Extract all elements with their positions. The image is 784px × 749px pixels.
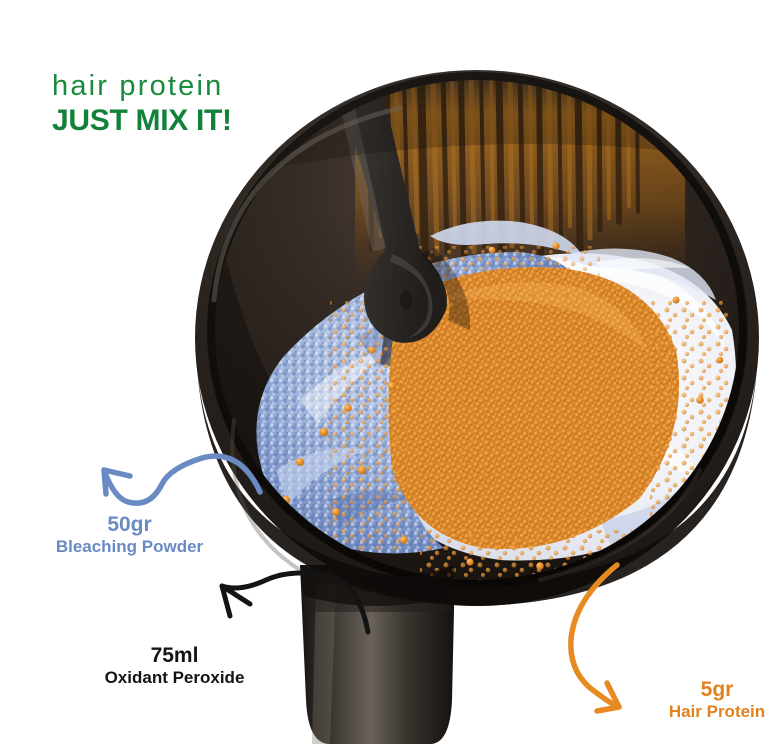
title-line-2: JUST MIX IT!	[52, 105, 232, 137]
bleaching-powder-name: Bleaching Powder	[22, 537, 237, 557]
callout-bleaching-powder: 50gr Bleaching Powder	[22, 513, 237, 558]
oxidant-peroxide-amount: 75ml	[62, 644, 287, 668]
oxidant-peroxide-name: Oxidant Peroxide	[62, 668, 287, 688]
callout-hair-protein: 5gr Hair Protein	[643, 678, 784, 723]
title-line-1: hair protein	[52, 72, 232, 101]
hair-protein-name: Hair Protein	[643, 702, 784, 722]
bleaching-powder-amount: 50gr	[22, 513, 237, 537]
callout-oxidant-peroxide: 75ml Oxidant Peroxide	[62, 644, 287, 689]
infographic-canvas: hair protein JUST MIX IT! 50gr Bleaching…	[0, 0, 784, 744]
page-title: hair protein JUST MIX IT!	[52, 72, 232, 137]
hair-protein-amount: 5gr	[643, 678, 784, 702]
